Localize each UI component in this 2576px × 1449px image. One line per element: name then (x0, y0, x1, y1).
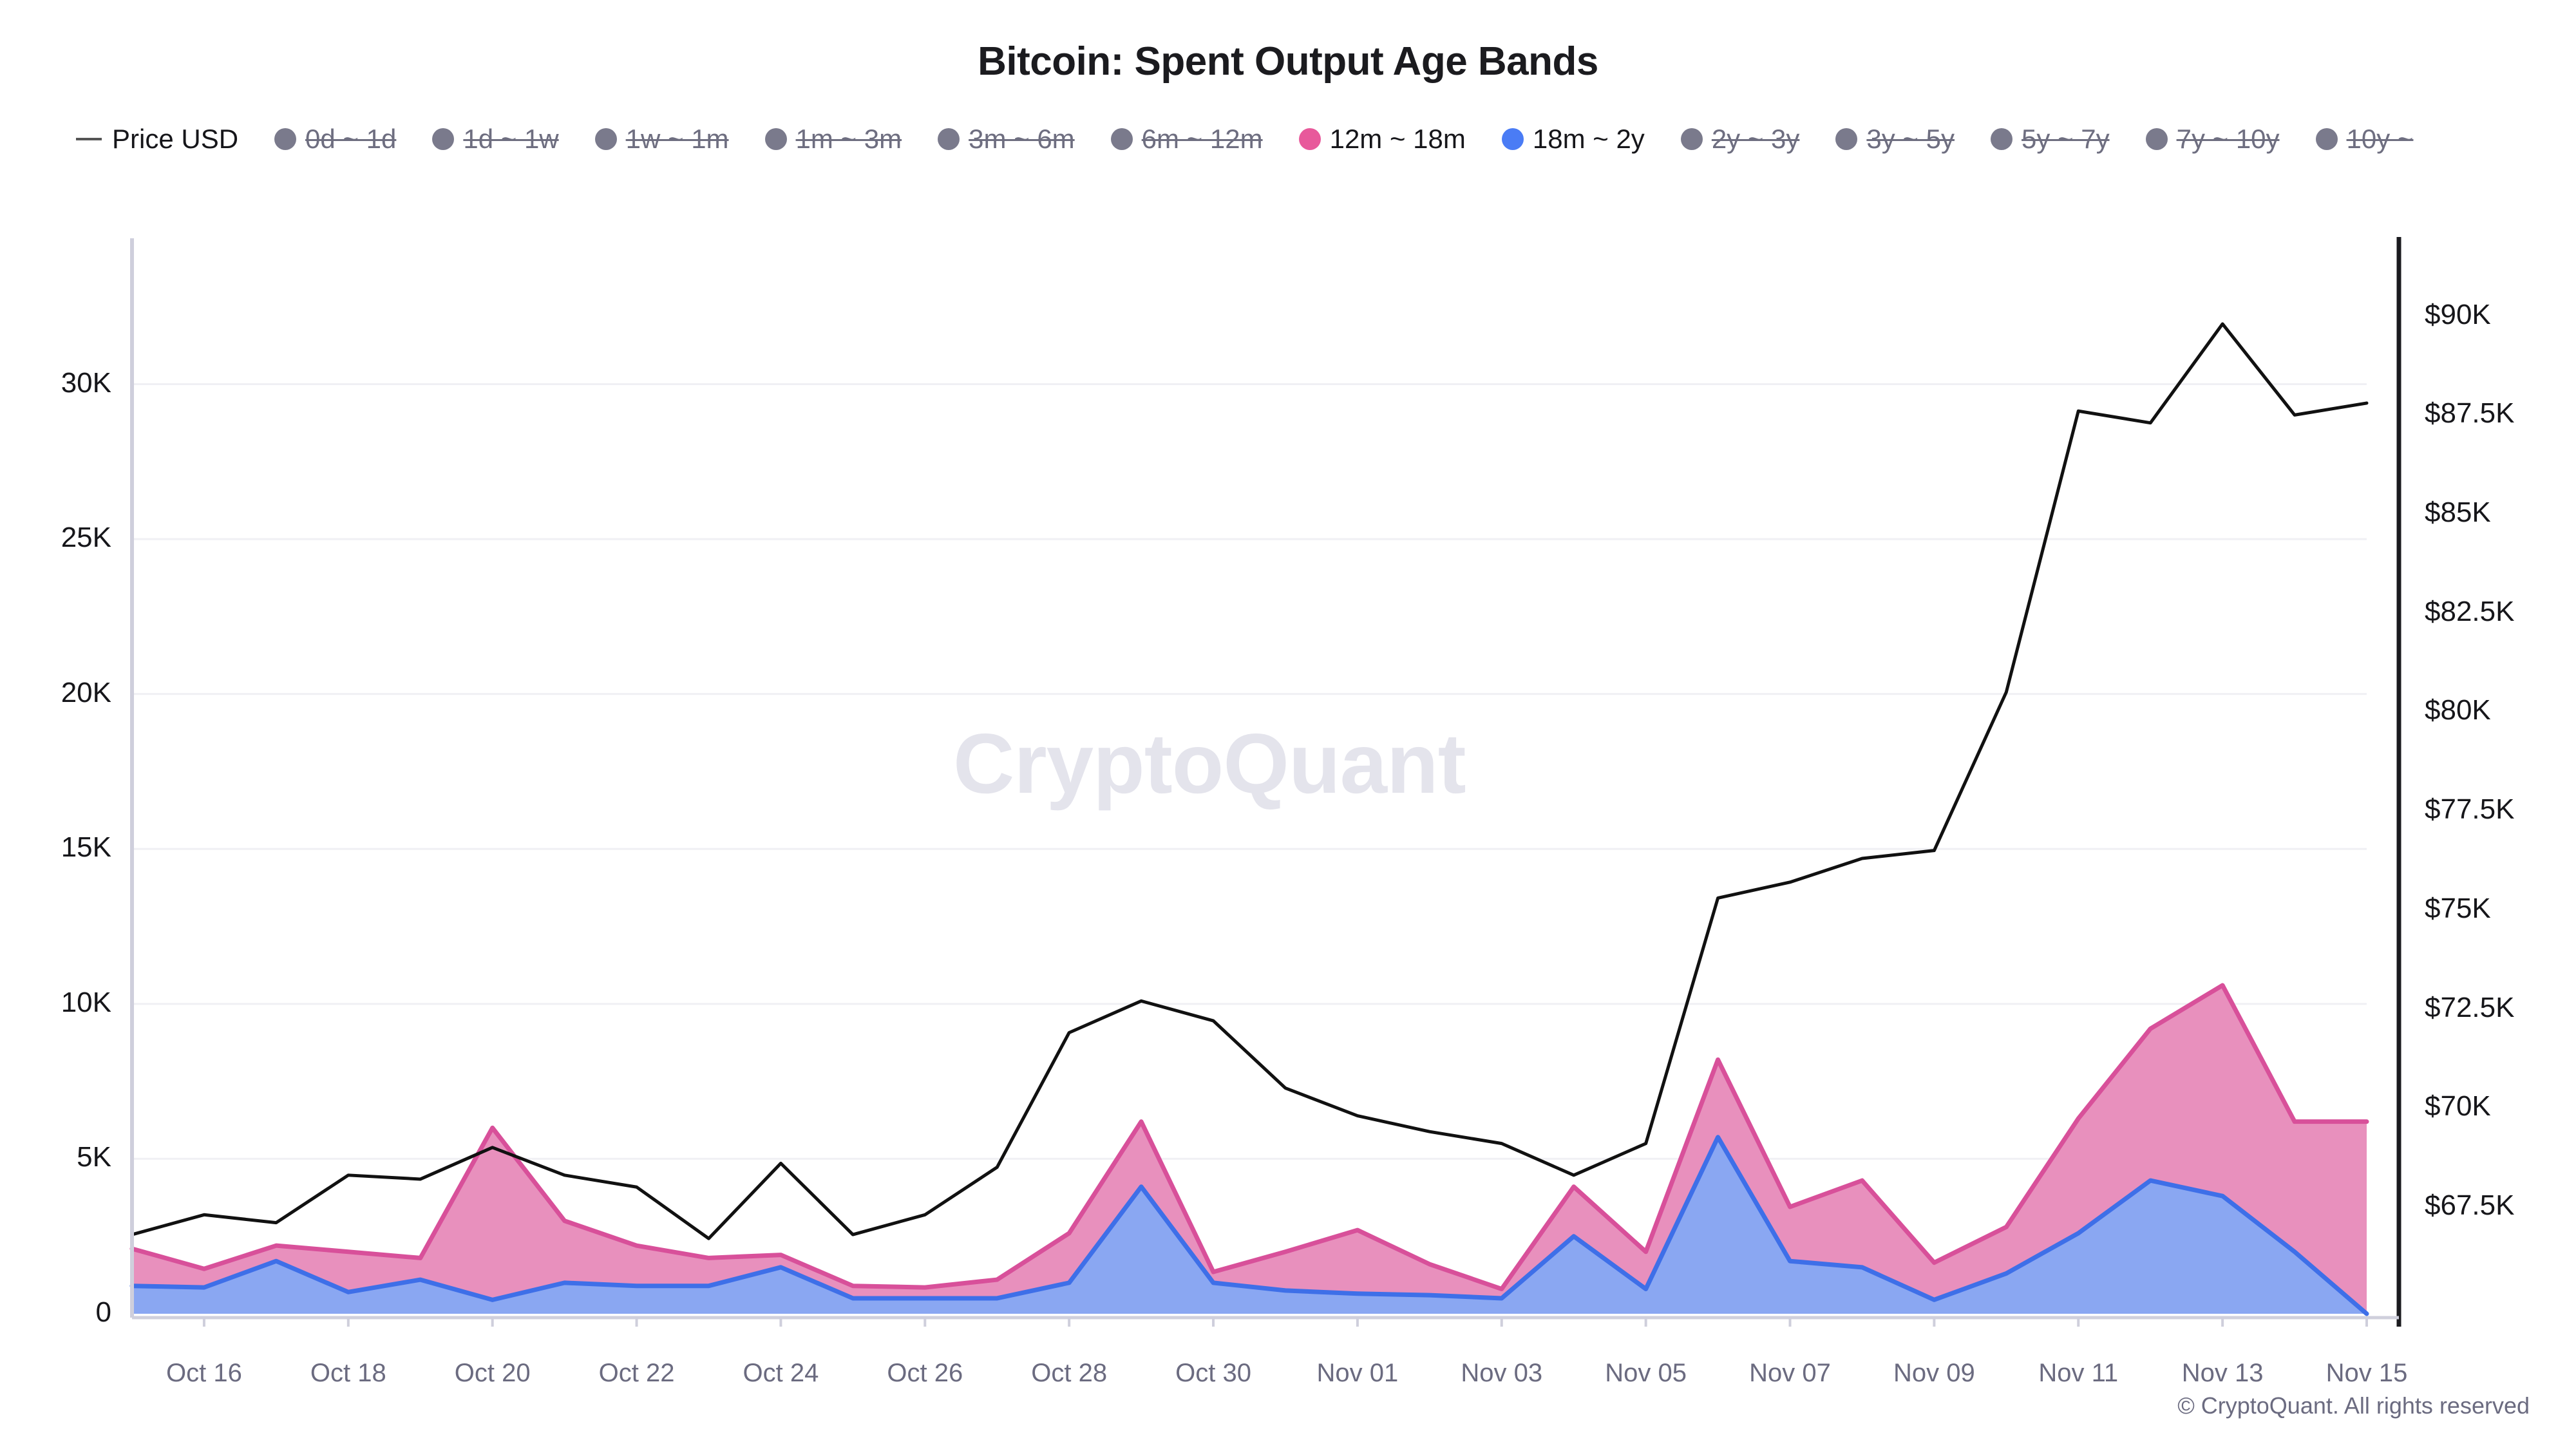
legend-item-18m-2y[interactable]: 18m ~ 2y (1502, 122, 1645, 156)
price-usd-line (132, 324, 2367, 1238)
legend-item-label: 5y ~ 7y (2022, 126, 2110, 153)
legend-dot-icon (1111, 128, 1133, 150)
legend-dot-icon (1991, 128, 2012, 150)
legend-item-0d-1d[interactable]: 0d ~ 1d (274, 122, 396, 156)
legend-dot-icon (274, 128, 296, 150)
x-axis-tick-label: Nov 07 (1749, 1360, 1831, 1386)
legend-item-1w-1m[interactable]: 1w ~ 1m (595, 122, 729, 156)
y-axis-left-tick: 10K (0, 989, 111, 1017)
x-axis-tick-label: Oct 20 (455, 1360, 531, 1386)
y-axis-right-tick: $70K (2425, 1092, 2491, 1121)
legend-item-1m-3m[interactable]: 1m ~ 3m (765, 122, 902, 156)
legend-dot-icon (2316, 128, 2338, 150)
legend-item-label: 1w ~ 1m (626, 126, 729, 153)
page-title: Bitcoin: Spent Output Age Bands (0, 39, 2576, 84)
legend-item-6m-12m[interactable]: 6m ~ 12m (1111, 122, 1263, 156)
plot-area (0, 232, 2576, 1327)
legend-item-label: 3y ~ 5y (1866, 126, 1955, 153)
y-axis-left-tick: 15K (0, 833, 111, 862)
x-axis-tick-label: Nov 13 (2182, 1360, 2264, 1386)
y-axis-right-tick: $77.5K (2425, 795, 2514, 824)
legend-item-label: 1d ~ 1w (463, 126, 558, 153)
chart-root: Bitcoin: Spent Output Age Bands Price US… (0, 0, 2576, 1449)
x-axis-tick-label: Oct 30 (1175, 1360, 1251, 1386)
y-axis-right-tick: $90K (2425, 301, 2491, 329)
legend-item-7y-10y[interactable]: 7y ~ 10y (2146, 122, 2280, 156)
legend-dot-icon (938, 128, 960, 150)
y-axis-left-tick: 20K (0, 679, 111, 707)
legend-dot-icon (1299, 128, 1321, 150)
legend-item-10y[interactable]: 10y ~ (2316, 122, 2414, 156)
x-axis-tick-label: Nov 15 (2326, 1360, 2408, 1386)
legend-item-label: 0d ~ 1d (305, 126, 396, 153)
legend-dot-icon (432, 128, 454, 150)
legend-item-12m-18m[interactable]: 12m ~ 18m (1299, 122, 1466, 156)
y-axis-left-tick: 25K (0, 524, 111, 552)
y-axis-right-tick: $67.5K (2425, 1191, 2514, 1220)
y-axis-right-tick: $87.5K (2425, 399, 2514, 428)
y-axis-right-tick: $72.5K (2425, 994, 2514, 1022)
plot-svg (0, 232, 2576, 1327)
x-axis-tick-label: Nov 09 (1893, 1360, 1975, 1386)
y-axis-right-tick: $80K (2425, 696, 2491, 724)
y-axis-right-tick: $85K (2425, 498, 2491, 527)
legend-item-label: 6m ~ 12m (1142, 126, 1263, 153)
legend-dot-icon (765, 128, 787, 150)
legend-item-label: 10y ~ (2347, 126, 2414, 153)
legend-item-label: 7y ~ 10y (2177, 126, 2280, 153)
copyright-footer: © CryptoQuant. All rights reserved (2177, 1392, 2530, 1419)
legend-dot-icon (1502, 128, 1524, 150)
legend-item-2y-3y[interactable]: 2y ~ 3y (1681, 122, 1800, 156)
legend-item-label: 3m ~ 6m (969, 126, 1075, 153)
y-axis-right-tick: $75K (2425, 895, 2491, 923)
legend-item-label: Price USD (112, 126, 238, 153)
x-axis-tick-label: Oct 18 (310, 1360, 386, 1386)
x-axis-tick-label: Oct 22 (599, 1360, 675, 1386)
legend-item-3m-6m[interactable]: 3m ~ 6m (938, 122, 1075, 156)
legend-line-marker (76, 138, 102, 140)
legend-item-label: 18m ~ 2y (1533, 126, 1645, 153)
legend-item-5y-7y[interactable]: 5y ~ 7y (1991, 122, 2110, 156)
legend-dot-icon (595, 128, 617, 150)
x-axis-tick-label: Oct 26 (887, 1360, 963, 1386)
legend-dot-icon (1835, 128, 1857, 150)
x-axis-tick-label: Oct 16 (166, 1360, 242, 1386)
legend-item-3y-5y[interactable]: 3y ~ 5y (1835, 122, 1955, 156)
legend-item-price-usd[interactable]: Price USD (76, 122, 238, 156)
legend-dot-icon (1681, 128, 1703, 150)
y-axis-left-tick: 0 (0, 1298, 111, 1327)
legend-item-label: 1m ~ 3m (796, 126, 902, 153)
y-axis-left-tick: 30K (0, 369, 111, 397)
x-axis-tick-label: Oct 24 (743, 1360, 819, 1386)
chart-legend[interactable]: Price USD0d ~ 1d1d ~ 1w1w ~ 1m1m ~ 3m3m … (76, 122, 2523, 156)
y-axis-left-tick: 5K (0, 1143, 111, 1171)
x-axis-tick-label: Nov 05 (1605, 1360, 1687, 1386)
legend-dot-icon (2146, 128, 2168, 150)
x-axis-tick-label: Nov 01 (1317, 1360, 1399, 1386)
legend-item-1d-1w[interactable]: 1d ~ 1w (432, 122, 558, 156)
y-axis-right-tick: $82.5K (2425, 598, 2514, 626)
x-axis-tick-label: Nov 11 (2038, 1360, 2118, 1386)
legend-item-label: 2y ~ 3y (1712, 126, 1800, 153)
x-axis-tick-label: Oct 28 (1031, 1360, 1107, 1386)
x-axis-labels: Oct 16Oct 18Oct 20Oct 22Oct 24Oct 26Oct … (0, 1346, 2576, 1385)
x-axis-tick-label: Nov 03 (1461, 1360, 1542, 1386)
legend-item-label: 12m ~ 18m (1330, 126, 1466, 153)
